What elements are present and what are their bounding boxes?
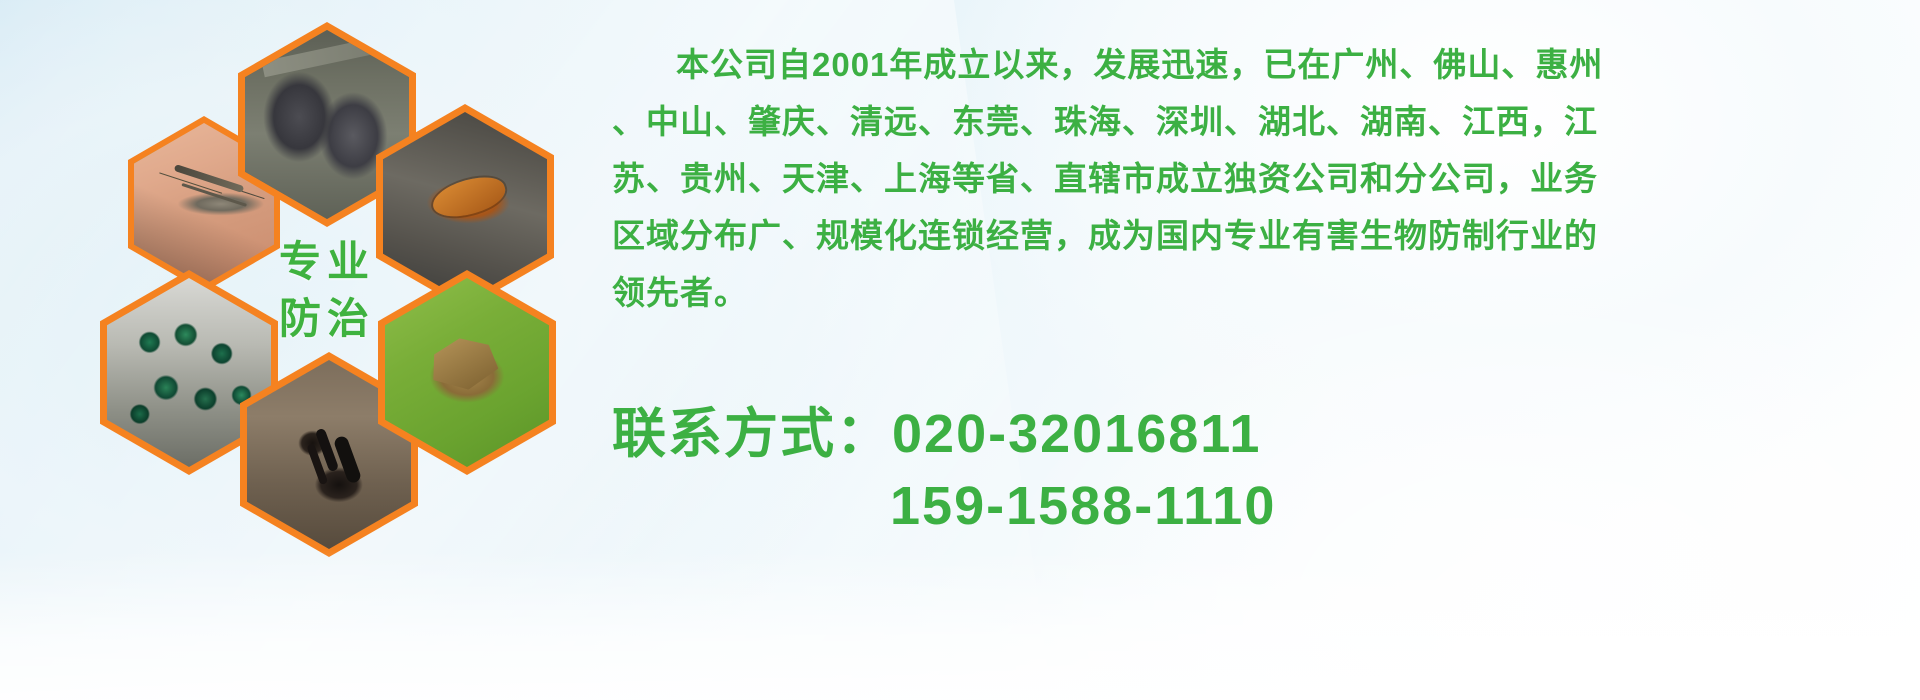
intro-line-3: 苏、贵州、天津、上海等省、直辖市成立独资公司和分公司，业务: [612, 150, 1912, 207]
intro-line-2: 、中山、肇庆、清远、东莞、珠海、深圳、湖北、湖南、江西，江: [612, 93, 1912, 150]
contact-phone-landline[interactable]: 联系方式：020-32016811: [612, 398, 1912, 470]
company-banner: 专业 防治 本公司自2001年成立以来，发展迅速，已在广州、佛山、惠州 、中山、…: [0, 0, 1920, 700]
company-intro-paragraph: 本公司自2001年成立以来，发展迅速，已在广州、佛山、惠州 、中山、肇庆、清远、…: [612, 36, 1912, 321]
intro-line-1: 本公司自2001年成立以来，发展迅速，已在广州、佛山、惠州: [612, 36, 1912, 93]
comb-label-line2: 防治: [279, 291, 375, 348]
intro-line-5: 领先者。: [612, 264, 1912, 321]
honeycomb-photo-collage: 专业 防治: [88, 8, 588, 548]
contact-phone-mobile[interactable]: 159-1588-1110: [612, 470, 1912, 542]
contact-block: 联系方式：020-32016811 159-1588-1110: [612, 398, 1912, 542]
intro-line-4: 区域分布广、规模化连锁经营，成为国内专业有害生物防制行业的: [612, 207, 1912, 264]
comb-label-line1: 专业: [279, 234, 375, 291]
bottom-fade-overlay: [0, 550, 1920, 700]
